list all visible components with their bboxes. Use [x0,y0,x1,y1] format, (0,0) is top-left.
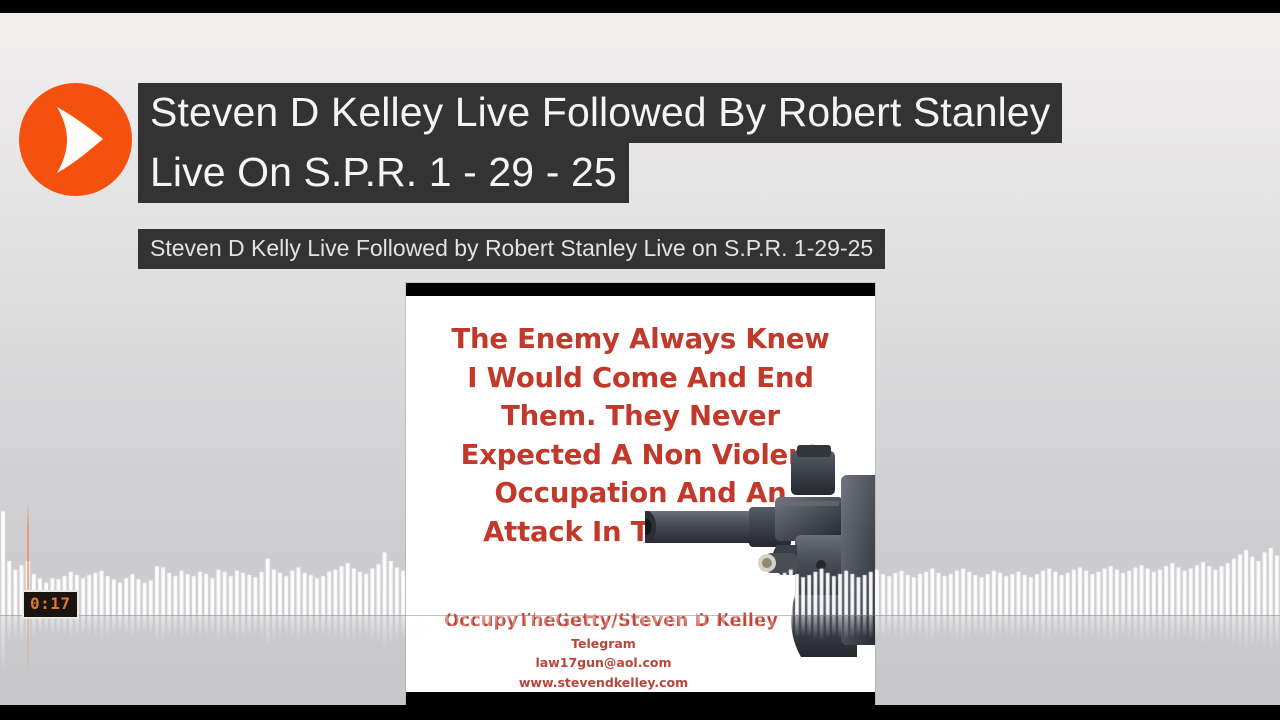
title-line-2: Live On S.P.R. 1 - 29 - 25 [138,143,629,203]
subtitle-text: Steven D Kelly Live Followed by Robert S… [138,229,885,269]
audio-player: Steven D Kelley Live Followed By Robert … [0,0,1280,720]
artwork-headline-line-1: The Enemy Always Knew [418,320,863,359]
artwork-top-border [406,283,875,296]
waveform-centerline [0,615,1280,616]
podbean-play-logo-icon[interactable] [19,83,132,196]
waveform-canvas[interactable] [0,501,1280,681]
artwork-bottom-border [406,692,875,705]
current-time-badge: 0:17 [22,590,79,619]
player-stage: Steven D Kelley Live Followed By Robert … [0,13,1280,705]
artwork-headline-line-4: Expected A Non Violent [418,436,863,475]
episode-subtitle: Steven D Kelly Live Followed by Robert S… [138,229,885,269]
letterbox-bottom-bar [0,705,1280,720]
episode-title: Steven D Kelley Live Followed By Robert … [138,83,1198,203]
artwork-headline-line-2: I Would Come And End [418,359,863,398]
letterbox-top-bar [0,0,1280,13]
title-line-1: Steven D Kelley Live Followed By Robert … [138,83,1062,143]
artwork-headline-line-3: Them. They Never [418,397,863,436]
waveform-scrubber[interactable] [0,501,1280,681]
